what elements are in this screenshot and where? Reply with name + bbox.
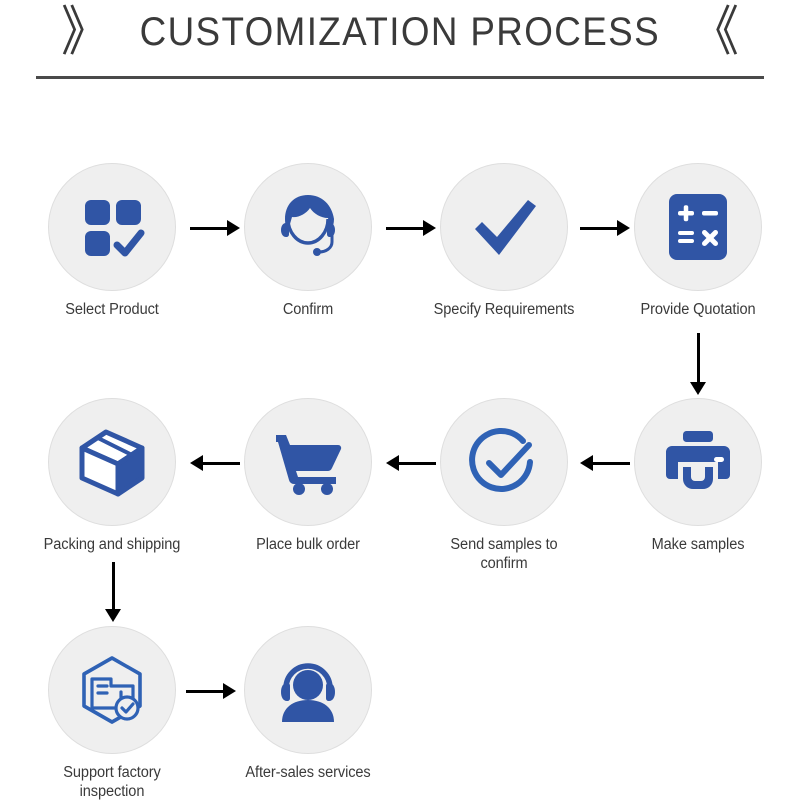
step-label: Specify Requirements <box>429 300 579 319</box>
arrow-head <box>223 683 236 699</box>
package-box-icon <box>76 426 148 498</box>
title-divider <box>36 76 764 79</box>
arrow-step6-step7 <box>386 454 436 472</box>
arrow-step7-step8 <box>190 454 240 472</box>
step-send-samples-to-confirm[interactable]: Send samples to confirm <box>424 398 584 573</box>
step-label: Packing and shipping <box>37 535 187 554</box>
step-label: After-sales services <box>233 763 383 782</box>
shopping-cart-icon <box>272 428 344 496</box>
step-label: Place bulk order <box>233 535 383 554</box>
step-icon-circle <box>634 163 762 291</box>
step-label: Make samples <box>623 535 773 554</box>
arrow-step8-step9 <box>104 562 122 622</box>
arrow-shaft <box>386 227 424 230</box>
arrow-shaft <box>202 462 240 465</box>
step-label: Send samples to confirm <box>429 535 579 573</box>
arrow-head <box>227 220 240 236</box>
arrow-step4-step5 <box>689 333 707 395</box>
step-select-product[interactable]: Select Product <box>32 163 192 319</box>
headphones-person-icon <box>272 656 344 724</box>
step-support-factory-inspection[interactable]: Support factory inspection <box>32 626 192 801</box>
circle-check-icon <box>467 425 541 499</box>
arrow-step3-step4 <box>580 219 630 237</box>
step-packing-and-shipping[interactable]: Packing and shipping <box>32 398 192 554</box>
product-grid-check-icon <box>77 192 147 262</box>
step-icon-circle <box>244 398 372 526</box>
arrow-head <box>690 382 706 395</box>
arrow-head <box>105 609 121 622</box>
customization-process-infographic: 》 CUSTOMIZATION PROCESS 《 Select Product <box>0 0 800 800</box>
step-icon-circle <box>634 398 762 526</box>
page-title: CUSTOMIZATION PROCESS <box>140 12 660 52</box>
step-make-samples[interactable]: Make samples <box>618 398 778 554</box>
factory-inspection-shield-icon <box>75 653 149 727</box>
step-confirm[interactable]: Confirm <box>228 163 388 319</box>
calculator-icon <box>665 191 731 263</box>
arrow-shaft <box>112 562 115 610</box>
step-label: Provide Quotation <box>623 300 773 319</box>
step-place-bulk-order[interactable]: Place bulk order <box>228 398 388 554</box>
step-label: Confirm <box>233 300 383 319</box>
arrow-shaft <box>697 333 700 383</box>
arrow-shaft <box>592 462 630 465</box>
step-provide-quotation[interactable]: Provide Quotation <box>618 163 778 319</box>
double-chevron-right-icon: 》 <box>61 5 109 59</box>
step-icon-circle <box>244 626 372 754</box>
step-icon-circle <box>440 163 568 291</box>
arrow-step2-step3 <box>386 219 436 237</box>
arrow-step5-step6 <box>580 454 630 472</box>
step-label: Support factory inspection <box>37 763 187 801</box>
arrow-shaft <box>580 227 618 230</box>
arrow-shaft <box>186 690 224 693</box>
step-icon-circle <box>440 398 568 526</box>
arrow-step1-step2 <box>190 219 240 237</box>
header: 》 CUSTOMIZATION PROCESS 《 <box>0 0 800 95</box>
arrow-head <box>617 220 630 236</box>
step-label: Select Product <box>37 300 187 319</box>
checkmark-icon <box>466 189 542 265</box>
title-row: 》 CUSTOMIZATION PROCESS 《 <box>0 8 800 56</box>
printer-icon <box>662 427 734 497</box>
step-icon-circle <box>48 626 176 754</box>
double-chevron-left-icon: 《 <box>691 5 739 59</box>
step-icon-circle <box>48 398 176 526</box>
arrow-head <box>423 220 436 236</box>
support-agent-headset-icon <box>270 189 346 265</box>
arrow-step9-step10 <box>186 682 236 700</box>
arrow-shaft <box>190 227 228 230</box>
step-icon-circle <box>244 163 372 291</box>
arrow-shaft <box>398 462 436 465</box>
step-after-sales-services[interactable]: After-sales services <box>228 626 388 782</box>
step-icon-circle <box>48 163 176 291</box>
step-specify-requirements[interactable]: Specify Requirements <box>424 163 584 319</box>
